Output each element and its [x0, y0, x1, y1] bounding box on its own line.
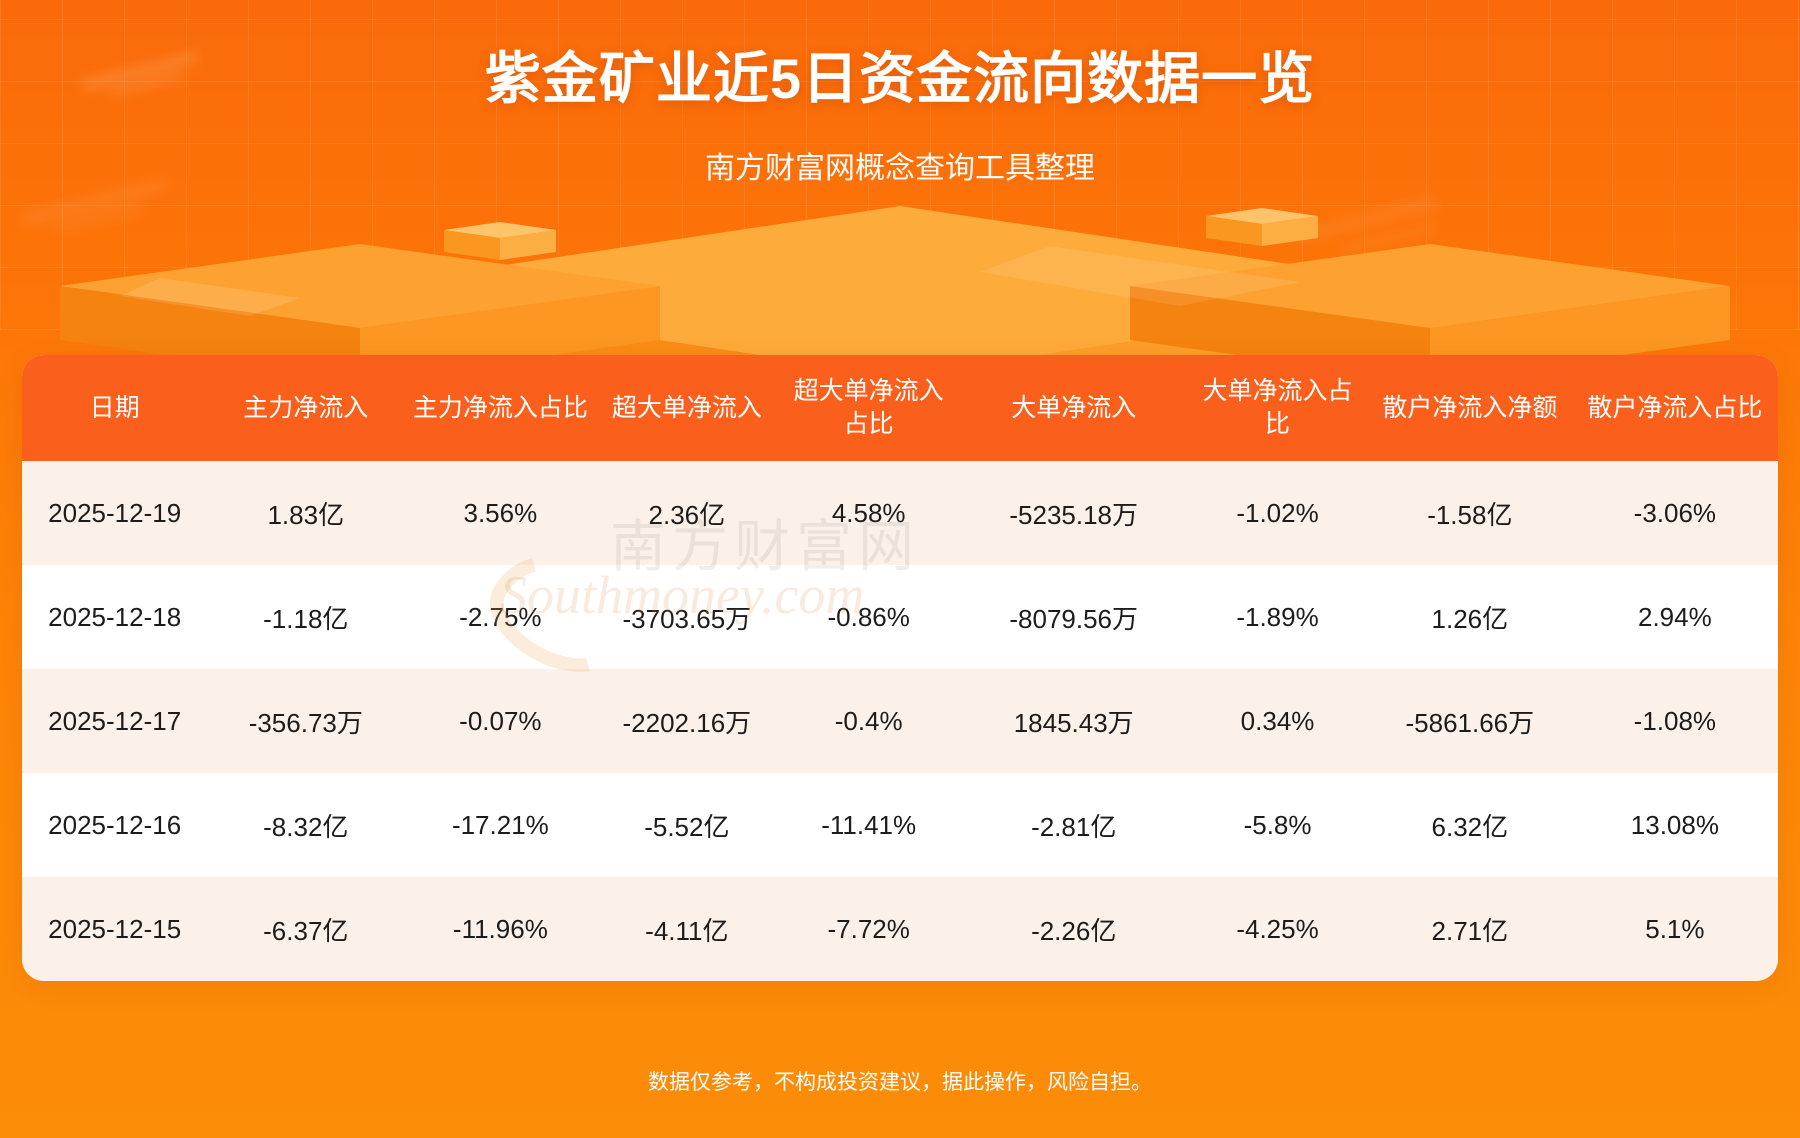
- poster-canvas: 紫金矿业近5日资金流向数据一览 南方财富网概念查询工具整理 日期 主力净流入 主…: [0, 0, 1800, 1138]
- column-header-lg-pct[interactable]: 大单净流入占比: [1187, 355, 1368, 461]
- cell-retail-pct: 5.1%: [1572, 877, 1778, 981]
- page-subtitle: 南方财富网概念查询工具整理: [0, 148, 1800, 190]
- cell-lg-pct: -5.8%: [1187, 773, 1368, 877]
- cell-retail-net: -5861.66万: [1368, 669, 1572, 773]
- cell-xl-net: -4.11亿: [597, 877, 778, 981]
- cell-main-pct: -0.07%: [404, 669, 596, 773]
- cell-xl-pct: -7.72%: [777, 877, 960, 981]
- column-header-lg-net[interactable]: 大单净流入: [960, 355, 1187, 461]
- cell-lg-pct: 0.34%: [1187, 669, 1368, 773]
- cell-date: 2025-12-17: [22, 669, 207, 773]
- cell-main-pct: 3.56%: [404, 461, 596, 565]
- cell-xl-pct: -0.4%: [777, 669, 960, 773]
- cell-xl-net: 2.36亿: [597, 461, 778, 565]
- cell-lg-net: -5235.18万: [960, 461, 1187, 565]
- cell-main-net: -356.73万: [207, 669, 404, 773]
- cell-xl-pct: 4.58%: [777, 461, 960, 565]
- table-row: 2025-12-19 1.83亿 3.56% 2.36亿 4.58% -5235…: [22, 461, 1778, 565]
- cell-lg-net: -2.81亿: [960, 773, 1187, 877]
- page-title: 紫金矿业近5日资金流向数据一览: [0, 44, 1800, 114]
- table-header-row: 日期 主力净流入 主力净流入占比 超大单净流入 超大单净流入占比 大单净流入 大…: [22, 355, 1778, 461]
- fund-flow-table-card: 日期 主力净流入 主力净流入占比 超大单净流入 超大单净流入占比 大单净流入 大…: [22, 355, 1778, 981]
- cell-lg-pct: -1.02%: [1187, 461, 1368, 565]
- column-header-xl-net[interactable]: 超大单净流入: [597, 355, 778, 461]
- cell-lg-net: 1845.43万: [960, 669, 1187, 773]
- column-header-main-pct[interactable]: 主力净流入占比: [404, 355, 596, 461]
- cell-retail-pct: -3.06%: [1572, 461, 1778, 565]
- table-body: 2025-12-19 1.83亿 3.56% 2.36亿 4.58% -5235…: [22, 461, 1778, 981]
- cell-main-net: -1.18亿: [207, 565, 404, 669]
- cell-retail-net: 1.26亿: [1368, 565, 1572, 669]
- column-header-xl-pct[interactable]: 超大单净流入占比: [777, 355, 960, 461]
- cell-retail-pct: 13.08%: [1572, 773, 1778, 877]
- cell-xl-net: -3703.65万: [597, 565, 778, 669]
- column-header-main-net[interactable]: 主力净流入: [207, 355, 404, 461]
- cell-lg-net: -8079.56万: [960, 565, 1187, 669]
- podium-decoration: [0, 186, 1800, 356]
- cell-retail-pct: -1.08%: [1572, 669, 1778, 773]
- table-row: 2025-12-15 -6.37亿 -11.96% -4.11亿 -7.72% …: [22, 877, 1778, 981]
- light-streak: [1291, 196, 1439, 244]
- cell-retail-pct: 2.94%: [1572, 565, 1778, 669]
- cell-retail-net: -1.58亿: [1368, 461, 1572, 565]
- cell-main-pct: -11.96%: [404, 877, 596, 981]
- cell-main-net: -6.37亿: [207, 877, 404, 981]
- cell-retail-net: 6.32亿: [1368, 773, 1572, 877]
- cell-xl-net: -5.52亿: [597, 773, 778, 877]
- cell-date: 2025-12-15: [22, 877, 207, 981]
- cell-xl-pct: -0.86%: [777, 565, 960, 669]
- cell-retail-net: 2.71亿: [1368, 877, 1572, 981]
- cell-main-pct: -2.75%: [404, 565, 596, 669]
- cell-date: 2025-12-16: [22, 773, 207, 877]
- cell-date: 2025-12-18: [22, 565, 207, 669]
- cell-main-net: -8.32亿: [207, 773, 404, 877]
- table-row: 2025-12-16 -8.32亿 -17.21% -5.52亿 -11.41%…: [22, 773, 1778, 877]
- cell-lg-pct: -1.89%: [1187, 565, 1368, 669]
- table-row: 2025-12-18 -1.18亿 -2.75% -3703.65万 -0.86…: [22, 565, 1778, 669]
- cell-main-net: 1.83亿: [207, 461, 404, 565]
- cell-xl-pct: -11.41%: [777, 773, 960, 877]
- table-header: 日期 主力净流入 主力净流入占比 超大单净流入 超大单净流入占比 大单净流入 大…: [22, 355, 1778, 461]
- column-header-date[interactable]: 日期: [22, 355, 207, 461]
- disclaimer-text: 数据仅参考，不构成投资建议，据此操作，风险自担。: [0, 1068, 1800, 1098]
- cell-lg-net: -2.26亿: [960, 877, 1187, 981]
- fund-flow-table: 日期 主力净流入 主力净流入占比 超大单净流入 超大单净流入占比 大单净流入 大…: [22, 355, 1778, 981]
- cell-date: 2025-12-19: [22, 461, 207, 565]
- light-streak: [52, 203, 143, 234]
- cell-xl-net: -2202.16万: [597, 669, 778, 773]
- column-header-retail-pct[interactable]: 散户净流入占比: [1572, 355, 1778, 461]
- light-streak: [1340, 223, 1435, 255]
- column-header-retail-net[interactable]: 散户净流入净额: [1368, 355, 1572, 461]
- cell-main-pct: -17.21%: [404, 773, 596, 877]
- table-row: 2025-12-17 -356.73万 -0.07% -2202.16万 -0.…: [22, 669, 1778, 773]
- cell-lg-pct: -4.25%: [1187, 877, 1368, 981]
